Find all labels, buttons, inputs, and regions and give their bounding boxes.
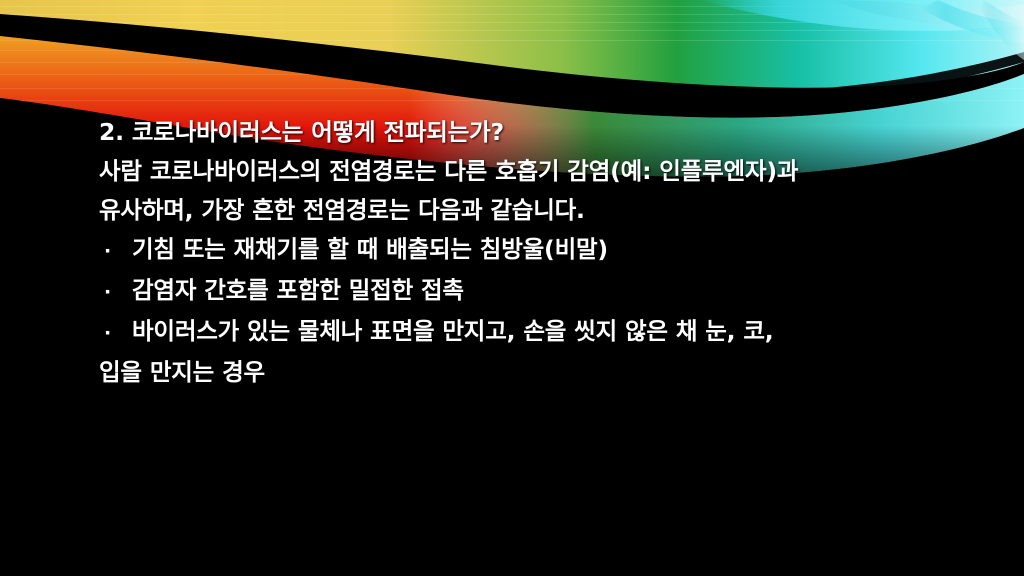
bullet-marker-icon: · — [104, 314, 132, 353]
slide-canvas: 2. 코로나바이러스는 어떻게 전파되는가? 사람 코로나바이러스의 전염경로는… — [0, 0, 1024, 576]
swoosh-top-band — [0, 0, 1024, 100]
bullet-item-2-label: 감염자 간호를 포함한 밀접한 접촉 — [132, 271, 464, 310]
bullet-item-3: · 바이러스가 있는 물체나 표면을 만지고, 손을 씻지 않은 채 눈, 코, — [99, 312, 959, 353]
bullet-item-1-label: 기침 또는 재채기를 할 때 배출되는 침방울(비말) — [132, 230, 608, 269]
bullet-marker-icon: · — [104, 273, 132, 312]
bullet-item-3-label: 바이러스가 있는 물체나 표면을 만지고, 손을 씻지 않은 채 눈, 코, — [132, 312, 774, 351]
bullet-marker-icon: · — [104, 232, 132, 271]
body-line-2: 유사하며, 가장 흔한 전염경로는 다음과 같습니다. — [99, 191, 959, 230]
bullet-item-2: · 감염자 간호를 포함한 밀접한 접촉 — [99, 271, 959, 312]
bullet-item-3-continuation: 입을 만지는 경우 — [99, 353, 959, 392]
body-line-1: 사람 코로나바이러스의 전염경로는 다른 호흡기 감염(예: 인플루엔자)과 — [99, 152, 959, 191]
slide-heading: 2. 코로나바이러스는 어떻게 전파되는가? — [99, 113, 959, 152]
bullet-item-1: · 기침 또는 재채기를 할 때 배출되는 침방울(비말) — [99, 230, 959, 271]
swoosh-dark-streak — [0, 20, 1024, 102]
swoosh-cyan-ribbons — [700, 0, 1024, 60]
slide-text-body: 2. 코로나바이러스는 어떻게 전파되는가? 사람 코로나바이러스의 전염경로는… — [99, 113, 959, 392]
